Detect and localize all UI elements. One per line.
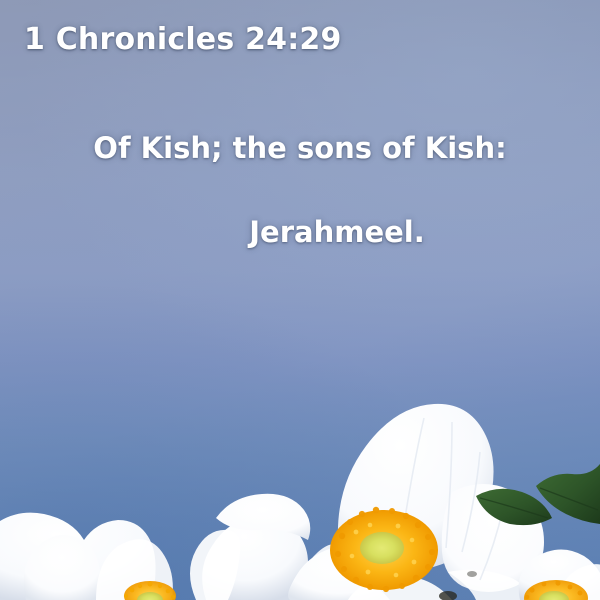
- leaf-right: [476, 464, 600, 525]
- flower-main-center: [330, 507, 438, 592]
- scripture-reference: 1 Chronicles 24:29: [24, 22, 342, 57]
- verse-text-block: Of Kish; the sons of Kish: Jerahmeel.: [0, 106, 600, 274]
- sky-haze-overlay: [0, 0, 600, 600]
- flower-left: [0, 513, 176, 600]
- anemone-flowers-illustration: [0, 400, 600, 600]
- verse-image-card: 1 Chronicles 24:29 Of Kish; the sons of …: [0, 0, 600, 600]
- flower-main: [288, 404, 544, 600]
- flower-right-center: [524, 580, 588, 600]
- flower-left-center: [124, 581, 176, 600]
- verse-line-1: Of Kish; the sons of Kish:: [0, 106, 600, 190]
- flower-left-center-petals: [190, 494, 354, 600]
- petal-specks: [439, 571, 477, 600]
- flower-right: [519, 549, 600, 600]
- verse-line-2: Jerahmeel.: [0, 190, 600, 274]
